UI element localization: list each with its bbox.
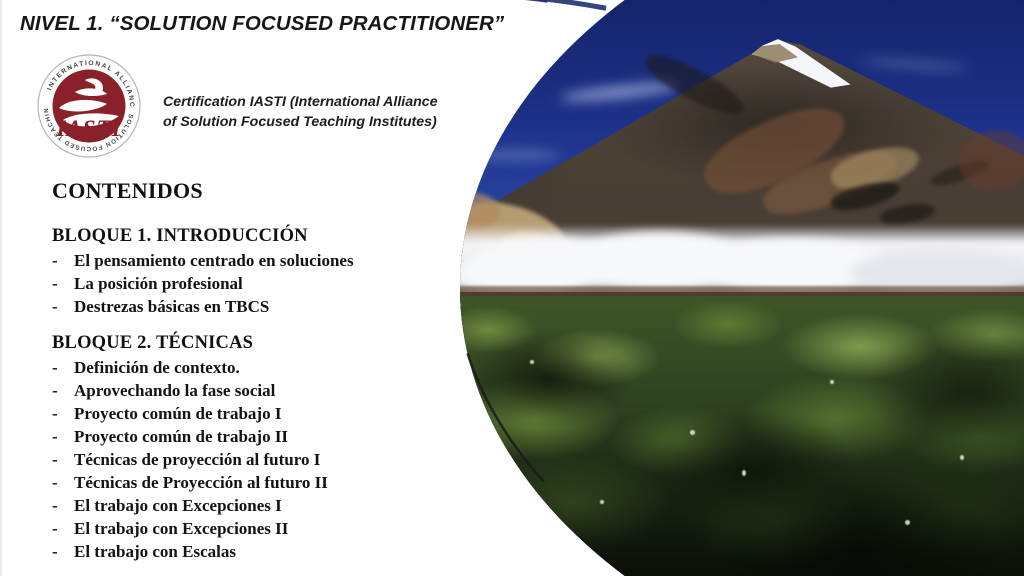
content-block-1: BLOQUE 1. INTRODUCCIÓN -El pensamiento c… <box>52 226 354 318</box>
list-item: -Aprovechando la fase social <box>52 379 328 402</box>
list-item-label: Técnicas de Proyección al futuro II <box>74 471 328 494</box>
list-item: -Definición de contexto. <box>52 356 328 379</box>
list-item-label: El pensamiento centrado en soluciones <box>74 249 354 272</box>
list-item: -Destrezas básicas en TBCS <box>52 295 354 318</box>
list-item-label: La posición profesional <box>74 272 243 295</box>
list-item-label: El trabajo con Excepciones I <box>74 494 282 517</box>
list-item-label: Destrezas básicas en TBCS <box>74 295 269 318</box>
bullet-marker: - <box>52 272 74 295</box>
bullet-marker: - <box>52 494 74 517</box>
canopy-highlight <box>742 470 746 476</box>
bullet-marker: - <box>52 249 74 272</box>
list-item: -La posición profesional <box>52 272 354 295</box>
block-heading: BLOQUE 2. TÉCNICAS <box>52 333 328 354</box>
forest-shadow-overlay <box>440 296 1024 576</box>
page-title: NIVEL 1. “SOLUTION FOCUSED PRACTITIONER” <box>20 12 490 36</box>
list-item: -El trabajo con Excepciones I <box>52 494 328 517</box>
bullet-marker: - <box>52 540 74 563</box>
iasti-logo: IASTI INTERNATIONAL ALLIANCE OF SOLUTION… <box>35 52 143 160</box>
block-heading: BLOQUE 1. INTRODUCCIÓN <box>52 226 354 247</box>
bullet-marker: - <box>52 402 74 425</box>
list-item-label: El trabajo con Escalas <box>74 540 236 563</box>
list-item: -El trabajo con Escalas <box>52 540 328 563</box>
canopy-highlight <box>600 500 604 504</box>
bullet-marker: - <box>52 448 74 471</box>
bullet-marker: - <box>52 471 74 494</box>
canopy-highlight <box>830 380 834 384</box>
bullet-marker: - <box>52 379 74 402</box>
subtitle: Certification IASTI (International Allia… <box>163 92 463 132</box>
list-item: -Proyecto común de trabajo II <box>52 425 328 448</box>
canopy-highlight <box>960 455 964 460</box>
canopy-highlight <box>905 520 910 525</box>
list-item: -Técnicas de proyección al futuro I <box>52 448 328 471</box>
canopy-highlight <box>690 430 695 435</box>
list-item: -El trabajo con Excepciones II <box>52 517 328 540</box>
iasti-logo-svg: IASTI INTERNATIONAL ALLIANCE OF SOLUTION… <box>35 52 143 160</box>
bullet-marker: - <box>52 517 74 540</box>
slide-left-edge-line <box>0 0 2 576</box>
list-item: -Técnicas de Proyección al futuro II <box>52 471 328 494</box>
list-item: -Proyecto común de trabajo I <box>52 402 328 425</box>
list-item-label: Aprovechando la fase social <box>74 379 275 402</box>
contents-heading: CONTENIDOS <box>52 178 203 204</box>
bullet-marker: - <box>52 356 74 379</box>
subtitle-line-2: of Solution Focused Teaching Institutes) <box>163 112 463 132</box>
bullet-marker: - <box>52 295 74 318</box>
content-block-2: BLOQUE 2. TÉCNICAS -Definición de contex… <box>52 333 328 563</box>
list-item-label: Proyecto común de trabajo II <box>74 425 288 448</box>
bullet-marker: - <box>52 425 74 448</box>
list-item: -El pensamiento centrado en soluciones <box>52 249 354 272</box>
cloud-wisp <box>470 150 560 160</box>
list-item-label: Técnicas de proyección al futuro I <box>74 448 320 471</box>
list-item-label: Proyecto común de trabajo I <box>74 402 281 425</box>
slide: NIVEL 1. “SOLUTION FOCUSED PRACTITIONER”… <box>0 0 1024 576</box>
list-item-label: Definición de contexto. <box>74 356 240 379</box>
subtitle-line-1: Certification IASTI (International Allia… <box>163 92 463 112</box>
canopy-highlight <box>530 360 534 364</box>
list-item-label: El trabajo con Excepciones II <box>74 517 288 540</box>
